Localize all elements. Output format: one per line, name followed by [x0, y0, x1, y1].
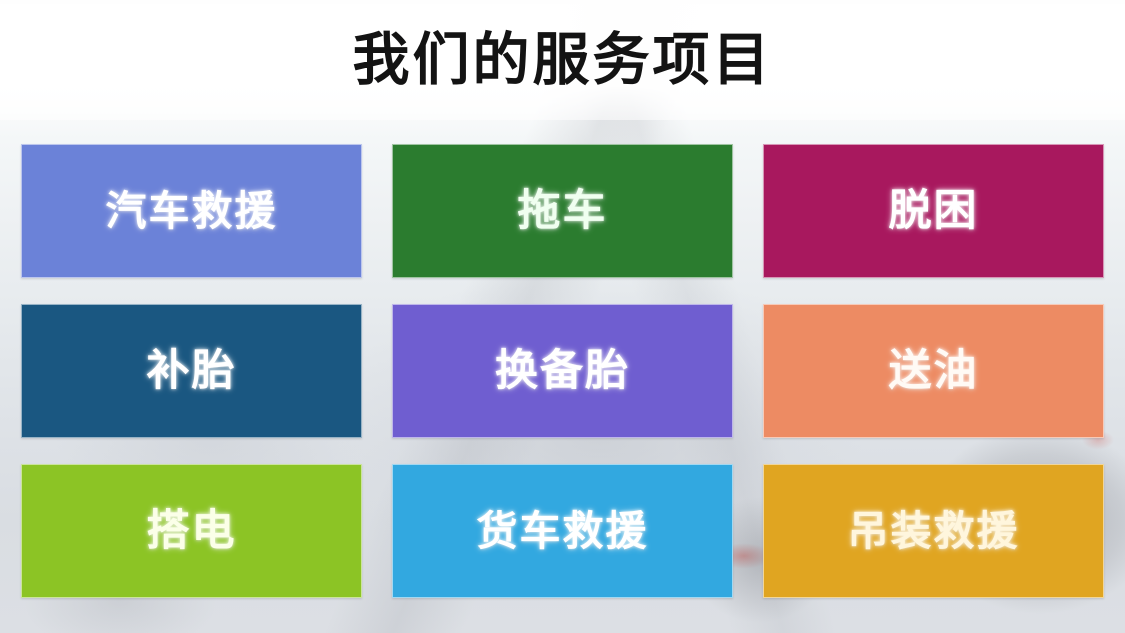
service-tile[interactable]: 吊装救援 [763, 464, 1104, 598]
service-tile-label: 脱困 [889, 190, 979, 233]
service-tile-label: 拖车 [518, 190, 608, 233]
page-title-text: 我们的服务项目 [353, 32, 773, 89]
service-tile[interactable]: 货车救援 [392, 464, 733, 598]
service-tile-label: 货车救援 [477, 511, 649, 552]
service-tile[interactable]: 拖车 [392, 144, 733, 278]
service-tile[interactable]: 送油 [763, 304, 1104, 438]
service-tile[interactable]: 汽车救援 [21, 144, 362, 278]
service-tile[interactable]: 搭电 [21, 464, 362, 598]
page-title: 我们的服务项目 [0, 0, 1125, 120]
service-tile[interactable]: 脱困 [763, 144, 1104, 278]
service-tile-label: 吊装救援 [848, 511, 1020, 552]
service-tile[interactable]: 换备胎 [392, 304, 733, 438]
service-tile-label: 送油 [889, 350, 979, 393]
service-tile-label: 搭电 [147, 510, 237, 553]
service-items-poster: 我们的服务项目 汽车救援拖车脱困补胎换备胎送油搭电货车救援吊装救援 [0, 0, 1125, 633]
service-tile[interactable]: 补胎 [21, 304, 362, 438]
service-tile-grid: 汽车救援拖车脱困补胎换备胎送油搭电货车救援吊装救援 [21, 144, 1104, 597]
service-tile-label: 换备胎 [495, 350, 630, 393]
service-tile-label: 汽车救援 [106, 191, 278, 232]
service-tile-label: 补胎 [147, 350, 237, 393]
